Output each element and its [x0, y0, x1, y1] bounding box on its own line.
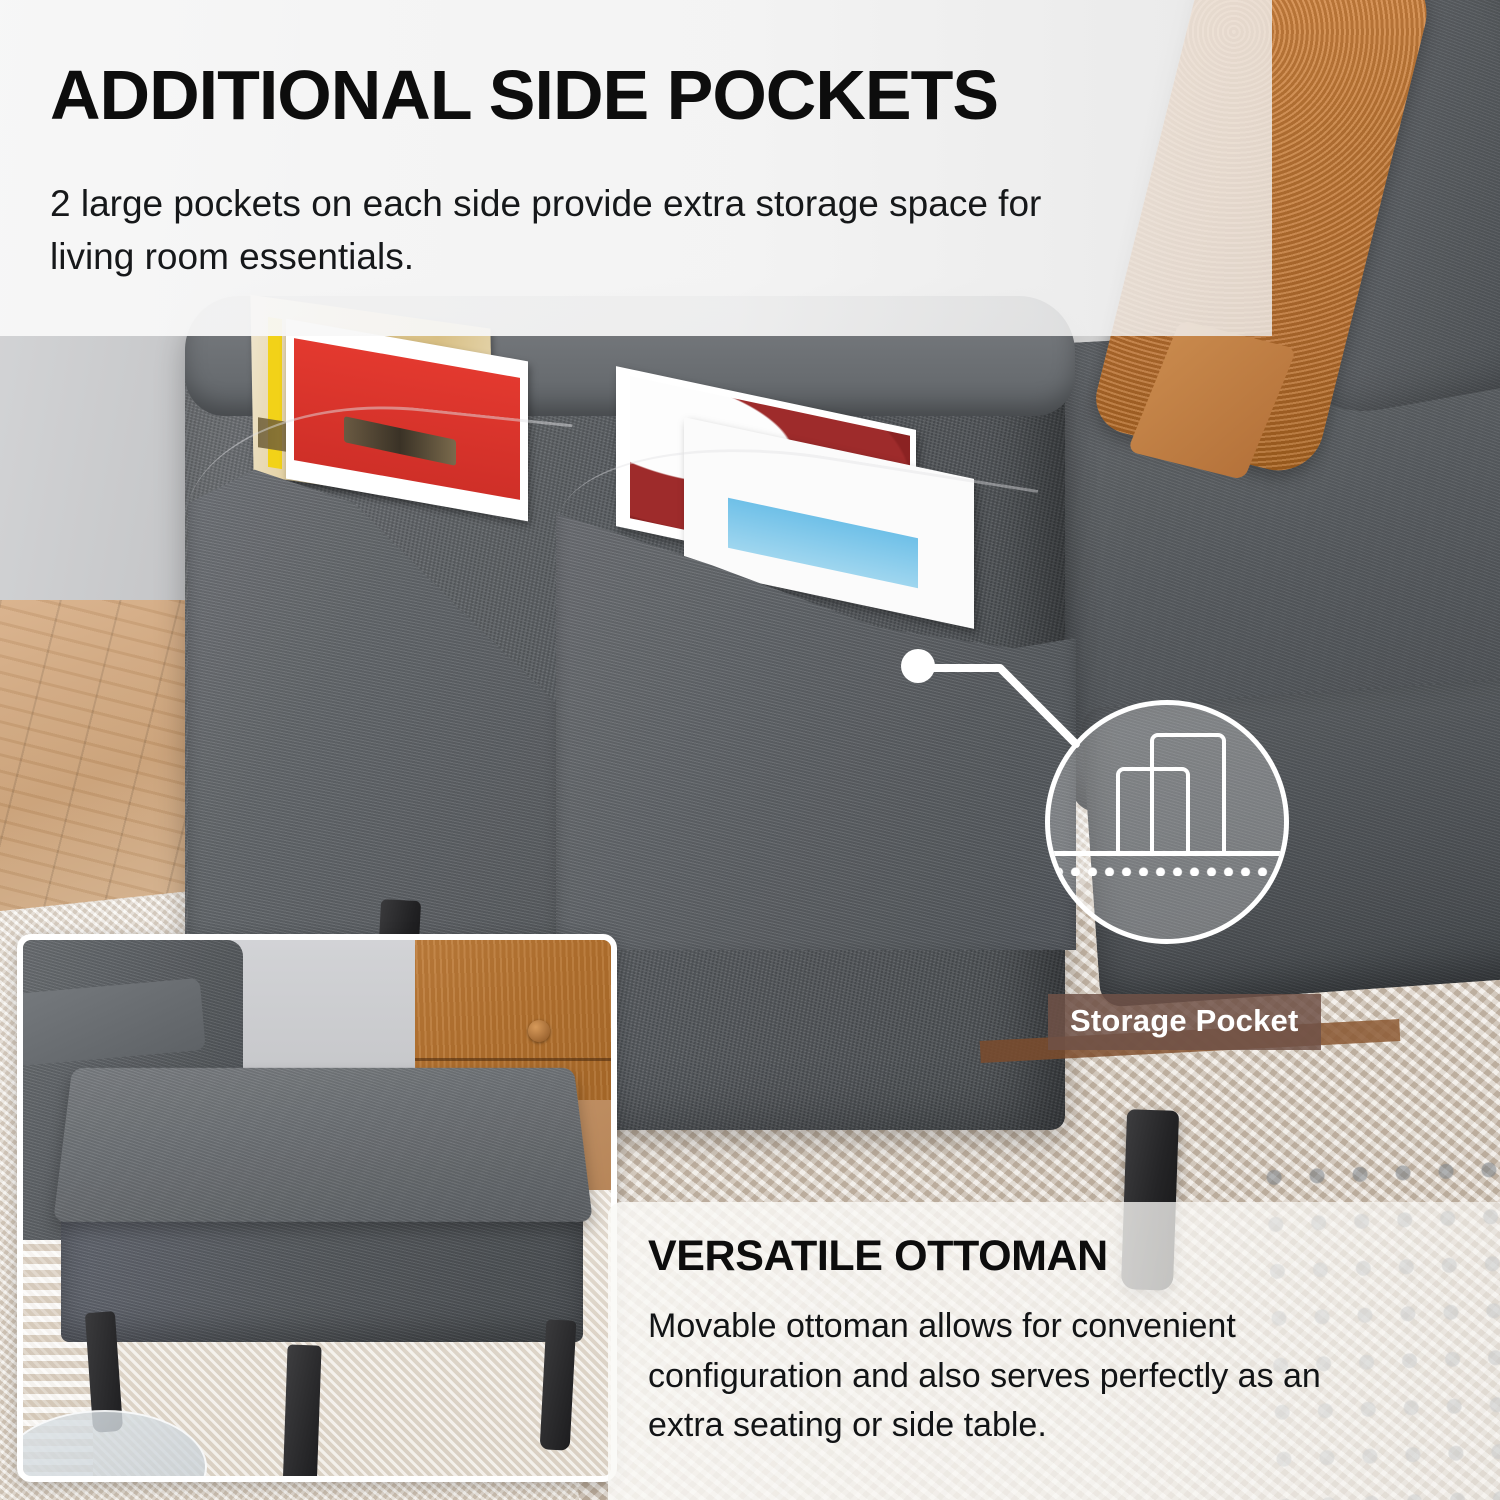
product-feature-image: Storage Pocket ADDITIONAL SIDE POCKETS 2… [0, 0, 1500, 1500]
header-banner: ADDITIONAL SIDE POCKETS 2 large pockets … [0, 0, 1272, 336]
inset-dresser-knob [528, 1020, 550, 1042]
pocket-item-tall-icon [1150, 733, 1226, 853]
page-subtitle: 2 large pockets on each side provide ext… [50, 178, 1130, 283]
pocket-stitch-dotted-line-icon [1050, 867, 1289, 876]
inset-photo-ottoman [17, 934, 617, 1482]
bottom-section-title: VERSATILE OTTOMAN [648, 1232, 1108, 1281]
page-title: ADDITIONAL SIDE POCKETS [50, 60, 998, 130]
inset-ottoman-cushion [53, 1068, 593, 1222]
pocket-opening-line-icon [1045, 851, 1289, 856]
storage-pocket-callout-circle [1045, 700, 1289, 944]
inset-ottoman-leg-front [282, 1344, 321, 1482]
storage-pocket-badge: Storage Pocket [1048, 994, 1321, 1050]
inset-dresser-drawer-seam [415, 1058, 617, 1061]
bottom-section-subtitle: Movable ottoman allows for convenient co… [648, 1302, 1388, 1451]
